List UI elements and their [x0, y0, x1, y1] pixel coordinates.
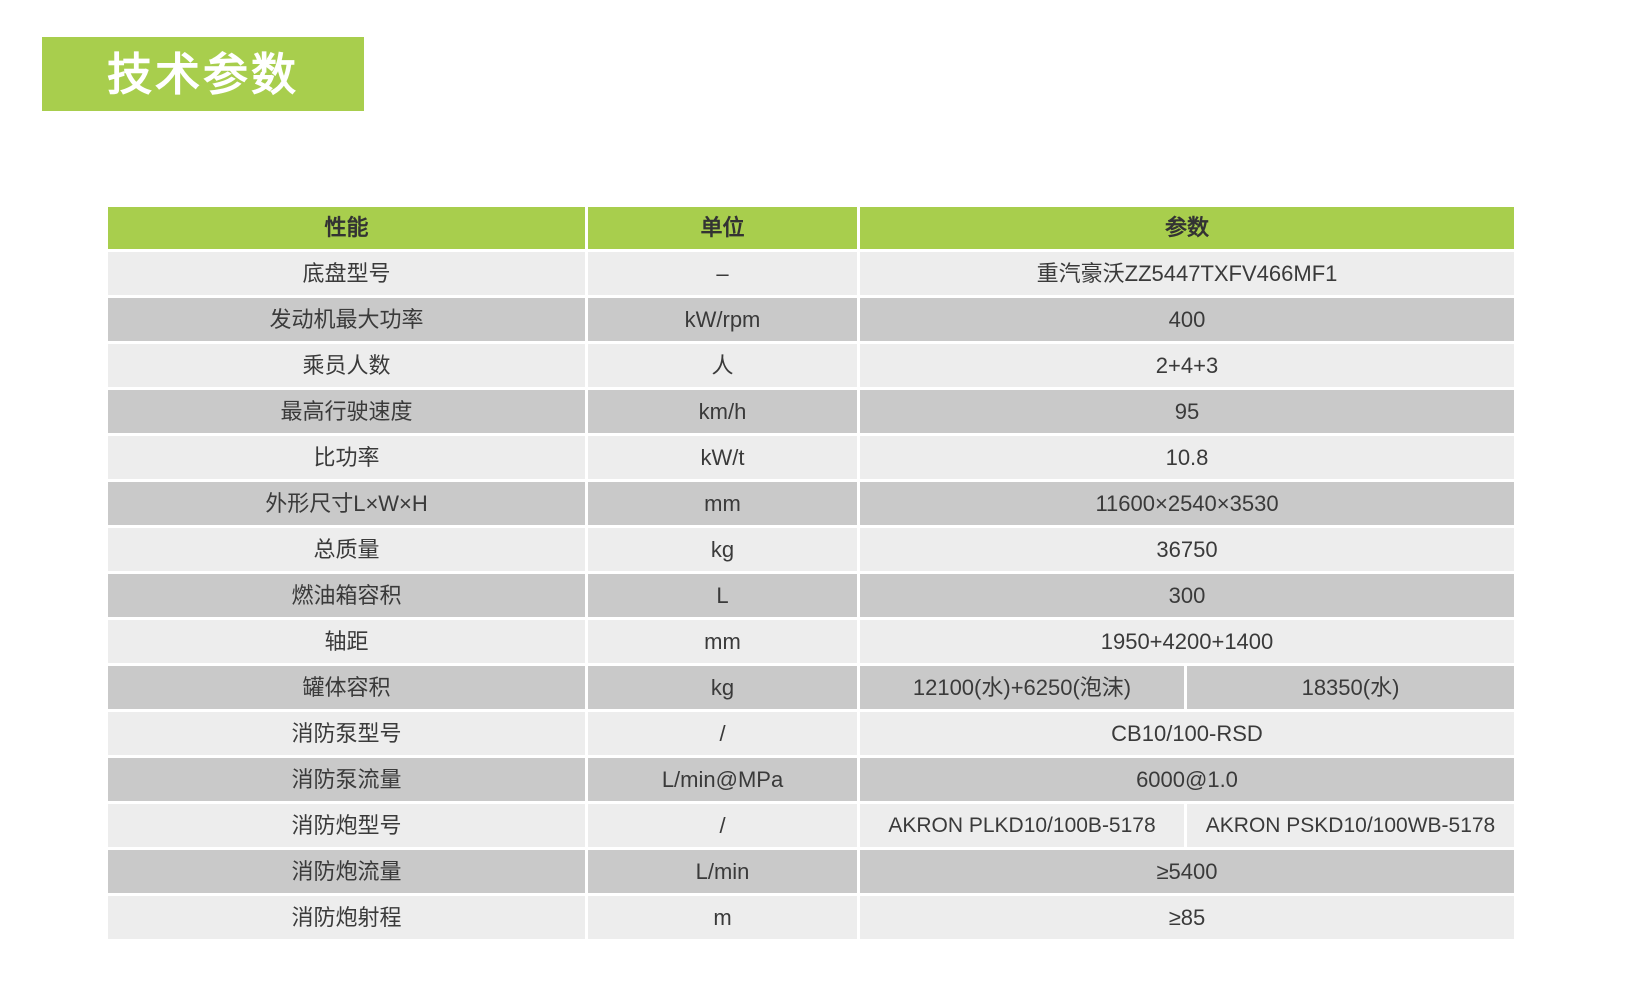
column-header-performance: 性能 — [108, 207, 585, 249]
cell-unit: kW/t — [588, 436, 857, 479]
cell-unit: / — [588, 804, 857, 847]
cell-unit: kg — [588, 666, 857, 709]
cell-performance: 燃油箱容积 — [108, 574, 585, 617]
split-cell-group: 12100(水)+6250(泡沫) 18350(水) — [860, 666, 1514, 709]
page-title: 技术参数 — [107, 52, 299, 97]
cell-parameter: 2+4+3 — [860, 344, 1514, 387]
table-row: 比功率 kW/t 10.8 — [108, 436, 1514, 479]
cell-performance: 底盘型号 — [108, 252, 585, 295]
cell-parameter: 11600×2540×3530 — [860, 482, 1514, 525]
cell-performance: 消防泵型号 — [108, 712, 585, 755]
cell-performance: 消防炮型号 — [108, 804, 585, 847]
cell-parameter: CB10/100-RSD — [860, 712, 1514, 755]
table-row: 消防泵型号 / CB10/100-RSD — [108, 712, 1514, 755]
table-body: 底盘型号 – 重汽豪沃ZZ5447TXFV466MF1 发动机最大功率 kW/r… — [108, 249, 1514, 939]
cell-unit: m — [588, 896, 857, 939]
table-row: 发动机最大功率 kW/rpm 400 — [108, 298, 1514, 341]
cell-parameter-split: 12100(水)+6250(泡沫) 18350(水) — [860, 666, 1514, 709]
cell-parameter: ≥85 — [860, 896, 1514, 939]
table-row: 消防炮射程 m ≥85 — [108, 896, 1514, 939]
cell-performance: 消防泵流量 — [108, 758, 585, 801]
technical-specifications-table: 性能 单位 参数 底盘型号 – 重汽豪沃ZZ5447TXFV466MF1 发动机… — [108, 207, 1514, 939]
cell-parameter: 95 — [860, 390, 1514, 433]
cell-performance: 轴距 — [108, 620, 585, 663]
table-row: 总质量 kg 36750 — [108, 528, 1514, 571]
cell-parameter-variant-b: AKRON PSKD10/100WB-5178 — [1187, 804, 1514, 847]
cell-parameter: 10.8 — [860, 436, 1514, 479]
table-row: 乘员人数 人 2+4+3 — [108, 344, 1514, 387]
cell-performance: 总质量 — [108, 528, 585, 571]
cell-unit: / — [588, 712, 857, 755]
cell-performance: 乘员人数 — [108, 344, 585, 387]
split-cell-group: AKRON PLKD10/100B-5178 AKRON PSKD10/100W… — [860, 804, 1514, 847]
cell-parameter: 300 — [860, 574, 1514, 617]
cell-performance: 消防炮流量 — [108, 850, 585, 893]
cell-performance: 最高行驶速度 — [108, 390, 585, 433]
table-row: 消防泵流量 L/min@MPa 6000@1.0 — [108, 758, 1514, 801]
cell-performance: 比功率 — [108, 436, 585, 479]
cell-performance: 外形尺寸L×W×H — [108, 482, 585, 525]
cell-parameter: 1950+4200+1400 — [860, 620, 1514, 663]
table-row: 燃油箱容积 L 300 — [108, 574, 1514, 617]
cell-unit: kg — [588, 528, 857, 571]
cell-unit: kW/rpm — [588, 298, 857, 341]
cell-parameter: 400 — [860, 298, 1514, 341]
cell-parameter: 6000@1.0 — [860, 758, 1514, 801]
cell-unit: – — [588, 252, 857, 295]
cell-parameter-variant-b: 18350(水) — [1187, 666, 1514, 709]
cell-unit: mm — [588, 482, 857, 525]
cell-parameter-split: AKRON PLKD10/100B-5178 AKRON PSKD10/100W… — [860, 804, 1514, 847]
cell-parameter: 36750 — [860, 528, 1514, 571]
cell-unit: mm — [588, 620, 857, 663]
table-row: 最高行驶速度 km/h 95 — [108, 390, 1514, 433]
table-header: 性能 单位 参数 — [108, 207, 1514, 249]
cell-unit: L/min — [588, 850, 857, 893]
cell-parameter-variant-a: AKRON PLKD10/100B-5178 — [860, 804, 1187, 847]
cell-unit: 人 — [588, 344, 857, 387]
cell-parameter: 重汽豪沃ZZ5447TXFV466MF1 — [860, 252, 1514, 295]
cell-performance: 消防炮射程 — [108, 896, 585, 939]
column-header-unit: 单位 — [588, 207, 857, 249]
table-row: 底盘型号 – 重汽豪沃ZZ5447TXFV466MF1 — [108, 252, 1514, 295]
cell-unit: L — [588, 574, 857, 617]
table-header-row: 性能 单位 参数 — [108, 207, 1514, 249]
page-title-banner: 技术参数 — [42, 37, 364, 111]
cell-performance: 发动机最大功率 — [108, 298, 585, 341]
cell-parameter: ≥5400 — [860, 850, 1514, 893]
column-header-parameter: 参数 — [860, 207, 1514, 249]
table-row: 外形尺寸L×W×H mm 11600×2540×3530 — [108, 482, 1514, 525]
cell-parameter-variant-a: 12100(水)+6250(泡沫) — [860, 666, 1187, 709]
table-row: 消防炮型号 / AKRON PLKD10/100B-5178 AKRON PSK… — [108, 804, 1514, 847]
cell-unit: km/h — [588, 390, 857, 433]
cell-performance: 罐体容积 — [108, 666, 585, 709]
table-row: 轴距 mm 1950+4200+1400 — [108, 620, 1514, 663]
cell-unit: L/min@MPa — [588, 758, 857, 801]
table-row: 消防炮流量 L/min ≥5400 — [108, 850, 1514, 893]
table-row: 罐体容积 kg 12100(水)+6250(泡沫) 18350(水) — [108, 666, 1514, 709]
